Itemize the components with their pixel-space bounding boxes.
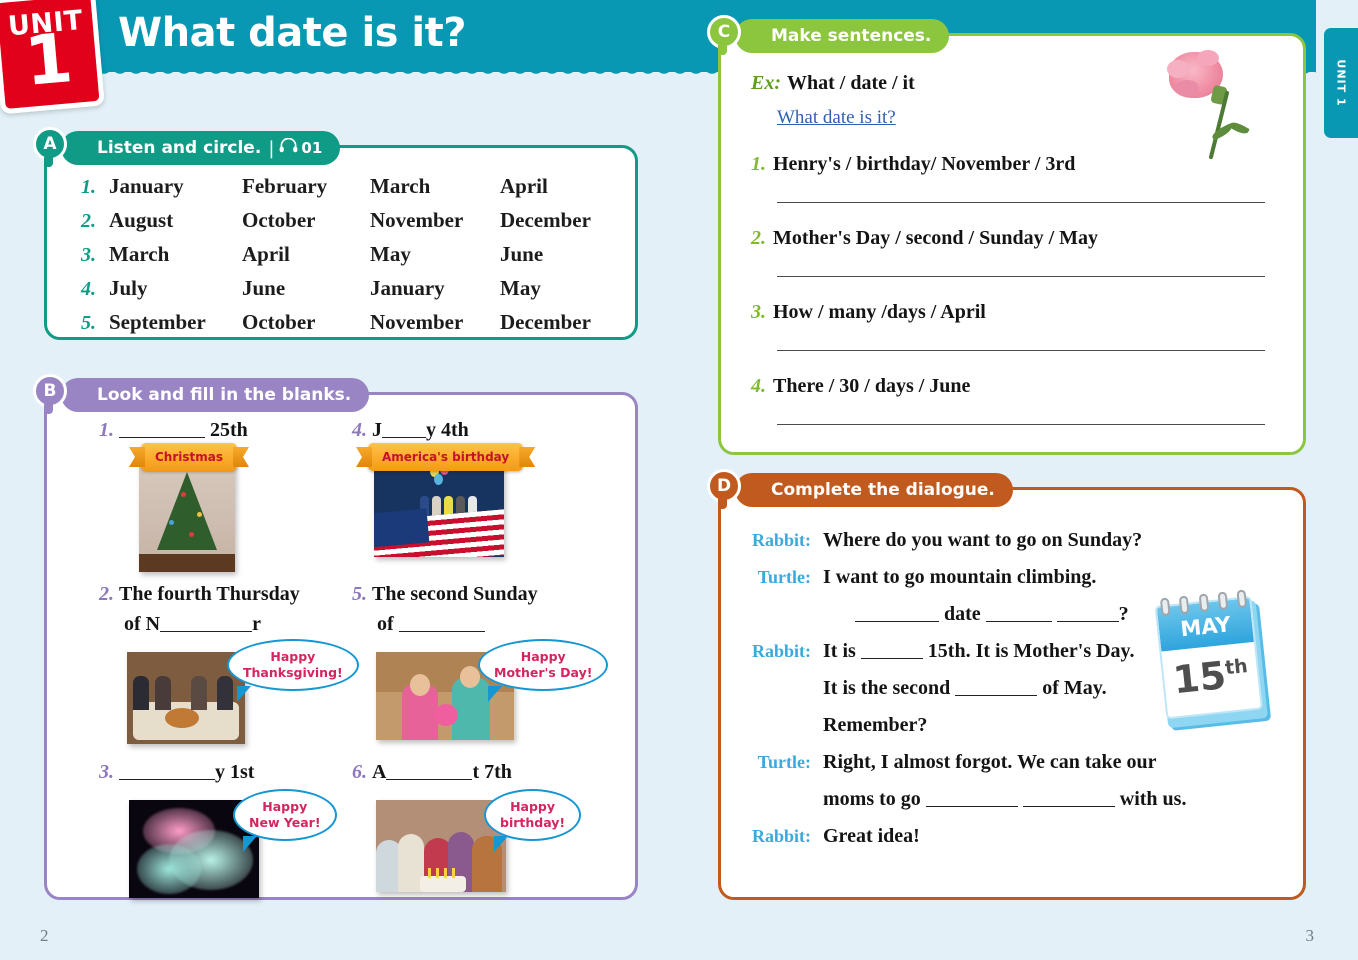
- section-b-letter: B: [44, 381, 57, 401]
- item-number: 1.: [99, 419, 114, 441]
- dialogue-line: Remember?: [751, 707, 1291, 744]
- section-d-title: Complete the dialogue.: [771, 480, 995, 500]
- badge-notch: [718, 45, 727, 55]
- item-4-suffix: y 4th: [426, 419, 469, 441]
- list-item: 2.The fourth Thursday of Nr Hap: [99, 579, 329, 743]
- item-number: 5.: [352, 583, 367, 605]
- dialogue-line: date ?: [751, 596, 1291, 633]
- dialogue-line: Rabbit: It is 15th. It is Mother's Day.: [751, 633, 1291, 670]
- headphones-icon: [279, 138, 298, 158]
- speaker-label: [751, 670, 823, 707]
- section-d-header: Complete the dialogue.: [735, 473, 1013, 507]
- section-d-badge: D: [707, 469, 741, 503]
- row-number: 4.: [81, 278, 109, 301]
- question-prompt: How / many /days / April: [773, 301, 986, 323]
- option-cell[interactable]: October: [242, 208, 370, 233]
- table-row: 2. August October November December: [81, 208, 620, 242]
- flower-bouquet: [434, 704, 458, 726]
- question-prompt: There / 30 / days / June: [773, 375, 970, 397]
- item-3-prompt: 3.y 1st: [99, 757, 329, 787]
- question-number: 3.: [751, 301, 766, 323]
- option-cell[interactable]: April: [500, 174, 620, 199]
- row-number: 2.: [81, 210, 109, 233]
- example-answer: What date is it?: [777, 107, 1271, 129]
- section-b-fill-in-blanks: Look and fill in the blanks. B 1. 25th: [44, 392, 638, 900]
- bubble-tail: [237, 686, 251, 702]
- option-cell[interactable]: May: [370, 242, 500, 267]
- speaker-label: Rabbit:: [751, 633, 823, 670]
- option-cell[interactable]: December: [500, 310, 620, 335]
- badge-notch: [44, 157, 53, 167]
- fill-blank[interactable]: [382, 420, 426, 438]
- section-b-badge: B: [33, 374, 67, 408]
- speaker-label: Turtle:: [751, 744, 823, 781]
- speech-bubble: HappyMother's Day!: [478, 639, 608, 691]
- speaker-label: [751, 781, 823, 818]
- page-number-left: 2: [40, 926, 49, 946]
- item-2-line2: of Nr: [124, 609, 329, 639]
- option-cell[interactable]: October: [242, 310, 370, 335]
- dialogue-text: Great idea!: [823, 818, 1291, 855]
- dialogue-line: Turtle: I want to go mountain climbing.: [751, 559, 1291, 596]
- item-number: 6.: [352, 761, 367, 783]
- dialogue-text: date ?: [823, 596, 1291, 633]
- item-6-prefix: A: [372, 761, 386, 783]
- dialogue-text: It is the second of May.: [823, 670, 1291, 707]
- item-5-text: The second Sunday: [372, 583, 538, 605]
- question-prompt: Henry's / birthday/ November / 3rd: [773, 153, 1075, 175]
- dialogue-text: Remember?: [823, 707, 1291, 744]
- dialogue-text: moms to go with us.: [823, 781, 1291, 818]
- section-c-make-sentences: Make sentences. C Ex:What / date / it Wh…: [718, 33, 1306, 455]
- section-b-left-column: 1. 25th Christmas 2.Th: [99, 415, 329, 907]
- option-cell[interactable]: November: [370, 310, 500, 335]
- speech-bubble: HappyThanksgiving!: [227, 639, 359, 691]
- dialogue-text: Right, I almost forgot. We can take our: [823, 744, 1291, 781]
- section-c-badge: C: [707, 15, 741, 49]
- fill-blank[interactable]: [1057, 605, 1119, 622]
- dialogue-line: Rabbit: Great idea!: [751, 818, 1291, 855]
- option-cell[interactable]: March: [370, 174, 500, 199]
- option-cell[interactable]: February: [242, 174, 370, 199]
- speaker-label: Turtle:: [751, 559, 823, 596]
- tree-shape: [157, 472, 217, 550]
- question-number: 1.: [751, 153, 766, 175]
- speaker-label: [751, 707, 823, 744]
- option-cell[interactable]: September: [109, 310, 242, 335]
- dialogue-text: It is 15th. It is Mother's Day.: [823, 633, 1291, 670]
- item-number: 4.: [352, 419, 367, 441]
- floor: [139, 554, 235, 572]
- section-c-body: Ex:What / date / it What date is it? 1.H…: [751, 72, 1271, 425]
- speaker-label: [751, 596, 823, 633]
- turkey-shape: [165, 708, 199, 728]
- flag-canton: [374, 509, 429, 548]
- item-number: 3.: [99, 761, 114, 783]
- question-row: 2.Mother's Day / second / Sunday / May: [751, 227, 1271, 250]
- section-d-letter: D: [717, 476, 731, 496]
- section-c-title: Make sentences.: [771, 26, 931, 46]
- option-cell[interactable]: December: [500, 208, 620, 233]
- unit-badge: UNIT 1: [0, 0, 105, 114]
- item-6-prompt: 6.At 7th: [352, 757, 592, 787]
- dialogue-line: It is the second of May.: [751, 670, 1291, 707]
- list-item: 4.Jy 4th: [352, 415, 592, 567]
- section-b-right-column: 4.Jy 4th: [352, 415, 592, 907]
- speech-bubble: Happybirthday!: [484, 789, 581, 841]
- dialogue-body: Rabbit: Where do you want to go on Sunda…: [751, 522, 1291, 855]
- list-item: 5.The second Sunday of HappyMo: [352, 579, 592, 743]
- speaker-label: Rabbit:: [751, 522, 823, 559]
- bubble-tail: [494, 836, 508, 852]
- side-tab-label: UNIT 1: [1335, 59, 1348, 106]
- side-tab-unit[interactable]: UNIT 1: [1324, 28, 1358, 138]
- fill-blank[interactable]: [955, 679, 1037, 696]
- fill-blank[interactable]: [160, 614, 252, 632]
- dialogue-line: Turtle: Right, I almost forgot. We can t…: [751, 744, 1291, 781]
- item-2-text: The fourth Thursday: [119, 583, 300, 605]
- item-1-suffix: 25th: [205, 419, 248, 441]
- section-a-rows: 1. January February March April 2. Augus…: [81, 174, 620, 344]
- table-row: 1. January February March April: [81, 174, 620, 208]
- dialogue-text: Where do you want to go on Sunday?: [823, 522, 1291, 559]
- ribbon-banner: America's birthday: [368, 443, 523, 471]
- fill-blank[interactable]: [861, 642, 923, 659]
- badge-notch: [718, 499, 727, 509]
- item-4-prefix: J: [372, 419, 382, 441]
- question-row: 1.Henry's / birthday/ November / 3rd: [751, 153, 1271, 176]
- item-4-prompt: 4.Jy 4th: [352, 415, 592, 445]
- bubble-tail: [488, 686, 502, 702]
- row-number: 1.: [81, 176, 109, 199]
- item-5-prefix: of: [377, 613, 399, 635]
- item-number: 2.: [99, 583, 114, 605]
- fill-blank[interactable]: [1023, 790, 1115, 807]
- option-cell[interactable]: March: [109, 242, 242, 267]
- speaker-label: Rabbit:: [751, 818, 823, 855]
- list-item: 6.At 7th: [352, 757, 592, 897]
- list-item: 1. 25th Christmas: [99, 415, 329, 567]
- option-cell[interactable]: June: [500, 242, 620, 267]
- fill-blank[interactable]: [119, 420, 205, 438]
- section-c-letter: C: [718, 22, 730, 42]
- cake-shape: [420, 876, 466, 892]
- badge-notch: [44, 404, 53, 414]
- item-5-line1: 5.The second Sunday: [352, 579, 592, 609]
- option-cell[interactable]: January: [370, 276, 500, 301]
- item-2-suffix: r: [252, 613, 261, 635]
- answer-line[interactable]: [777, 350, 1265, 351]
- page-number-right: 3: [1306, 926, 1315, 946]
- speech-bubble: HappyNew Year!: [233, 789, 337, 841]
- page-title: What date is it?: [118, 10, 466, 56]
- option-cell[interactable]: July: [109, 276, 242, 301]
- table-row: 5. September October November December: [81, 310, 620, 344]
- section-a-badge: A: [33, 127, 67, 161]
- item-3-suffix: y 1st: [215, 761, 254, 783]
- question-number: 2.: [751, 227, 766, 249]
- section-a-title: Listen and circle.: [97, 138, 261, 158]
- item-5-line2: of: [377, 609, 592, 639]
- item-2-prefix: of N: [124, 613, 160, 635]
- item-1-prompt: 1. 25th: [99, 415, 329, 445]
- question-row: 3.How / many /days / April: [751, 301, 1271, 324]
- ribbon-banner: Christmas: [141, 443, 237, 471]
- option-cell[interactable]: June: [242, 276, 370, 301]
- row-number: 5.: [81, 312, 109, 335]
- table-row: 3. March April May June: [81, 242, 620, 276]
- audio-track-number: 01: [301, 139, 322, 157]
- example-prompt-row: Ex:What / date / it: [751, 72, 1271, 95]
- christmas-tree-photo: [139, 462, 235, 572]
- option-cell[interactable]: April: [242, 242, 370, 267]
- list-item: 3.y 1st HappyNew Year!: [99, 757, 329, 897]
- item-6-suffix: t 7th: [472, 761, 511, 783]
- option-cell[interactable]: January: [109, 174, 242, 199]
- answer-line[interactable]: [777, 276, 1265, 277]
- question-row: 4.There / 30 / days / June: [751, 375, 1271, 398]
- question-number: 4.: [751, 375, 766, 397]
- american-flag-photo: [374, 462, 504, 557]
- bubble-tail: [243, 836, 257, 852]
- section-a-separator: |: [261, 138, 279, 159]
- answer-line[interactable]: [777, 424, 1265, 425]
- section-b-header: Look and fill in the blanks.: [61, 378, 369, 412]
- fill-blank[interactable]: [119, 762, 215, 780]
- section-c-header: Make sentences.: [735, 19, 949, 53]
- option-cell[interactable]: November: [370, 208, 500, 233]
- dialogue-text: I want to go mountain climbing.: [823, 559, 1291, 596]
- dialogue-line: moms to go with us.: [751, 781, 1291, 818]
- question-prompt: Mother's Day / second / Sunday / May: [773, 227, 1098, 249]
- section-a-listen-and-circle: Listen and circle. | 01 A 1. January Feb…: [44, 145, 638, 340]
- fill-blank[interactable]: [855, 605, 939, 622]
- fill-blank[interactable]: [926, 790, 1018, 807]
- fill-blank[interactable]: [399, 614, 485, 632]
- row-number: 3.: [81, 244, 109, 267]
- table-row: 4. July June January May: [81, 276, 620, 310]
- item-2-line1: 2.The fourth Thursday: [99, 579, 329, 609]
- workbook-spread: What date is it? UNIT 1 UNIT 1 Listen an…: [0, 0, 1358, 960]
- section-a-letter: A: [43, 134, 56, 154]
- option-cell[interactable]: May: [500, 276, 620, 301]
- dialogue-line: Rabbit: Where do you want to go on Sunda…: [751, 522, 1291, 559]
- section-a-header: Listen and circle. | 01: [61, 131, 340, 165]
- unit-badge-number: 1: [0, 23, 99, 99]
- fill-blank[interactable]: [986, 605, 1052, 622]
- section-d-complete-dialogue: Complete the dialogue. D MAY 15th Rabbit…: [718, 487, 1306, 900]
- answer-line[interactable]: [777, 202, 1265, 203]
- example-prompt: What / date / it: [787, 72, 915, 94]
- fill-blank[interactable]: [386, 762, 472, 780]
- section-b-title: Look and fill in the blanks.: [97, 385, 351, 405]
- example-label: Ex:: [751, 72, 781, 94]
- option-cell[interactable]: August: [109, 208, 242, 233]
